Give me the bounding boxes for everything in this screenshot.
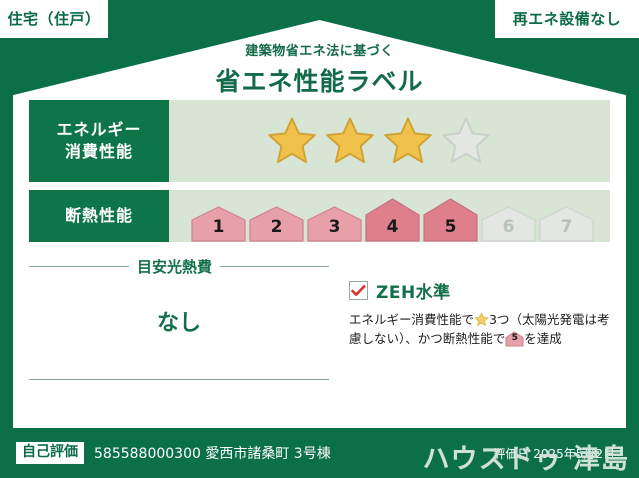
energy-performance-label: 住宅（住戸） 再エネ設備なし 建築物省エネ法に基づく 省エネ性能ラベル エネルギ… — [0, 0, 639, 478]
page-title: 省エネ性能ラベル — [0, 62, 639, 98]
insulation-level-chip-value: 5 — [423, 217, 478, 237]
insulation-level-chip-2: 2 — [249, 206, 304, 242]
renewable-energy-tag: 再エネ設備なし — [495, 0, 639, 38]
title-subtitle: 建築物省エネ法に基づく — [0, 40, 639, 59]
evaluation-date: 評価日 2025年5月2日 — [493, 445, 623, 462]
insulation-level-chip-1: 1 — [191, 206, 246, 242]
zeh-heading: ZEH水準 — [349, 278, 610, 303]
evaluation-type-badge: 自己評価 — [16, 442, 84, 464]
zeh-description-part1: エネルギー消費性能で — [349, 312, 474, 327]
energy-performance-label-box: エネルギー 消費性能 — [29, 100, 169, 182]
insulation-performance-row: 断熱性能 1234567 — [29, 190, 610, 242]
insulation-level-chip-value: 1 — [191, 217, 246, 237]
star-icon — [440, 115, 492, 167]
utility-cost-heading: 目安光熱費 — [29, 256, 329, 277]
renewable-energy-tag-label: 再エネ設備なし — [513, 12, 622, 27]
insulation-performance-value: 1234567 — [169, 190, 610, 242]
title-block: 建築物省エネ法に基づく 省エネ性能ラベル — [0, 40, 639, 98]
insulation-level-chip-6: 6 — [481, 206, 536, 242]
utility-cost-heading-label: 目安光熱費 — [137, 256, 212, 277]
insulation-level-chip-value: 4 — [365, 217, 420, 237]
utility-cost-bottom-rule — [29, 379, 329, 380]
footer-bar: 自己評価 585588000300 愛西市諸桑町 3号棟 評価日 2025年5月… — [0, 428, 639, 478]
zeh-checkbox[interactable] — [349, 281, 368, 300]
zeh-title: ZEH水準 — [376, 278, 451, 303]
insulation-performance-label-box: 断熱性能 — [29, 190, 169, 242]
heading-rule-right — [220, 266, 329, 267]
zeh-block: ZEH水準 エネルギー消費性能で 3つ（太陽光発電は考慮しない）、かつ断熱性能で… — [329, 256, 610, 380]
insulation-level-inline-chip: 5 — [505, 331, 524, 347]
heading-rule-left — [29, 266, 129, 267]
insulation-level-chip-4: 4 — [365, 198, 420, 242]
insulation-level-chip-7: 7 — [539, 206, 594, 242]
zeh-description-part3: を達成 — [524, 331, 562, 346]
zeh-description: エネルギー消費性能で 3つ（太陽光発電は考慮しない）、かつ断熱性能で 5 を達成 — [349, 310, 610, 349]
insulation-level-chip-value: 6 — [481, 217, 536, 237]
star-icon — [324, 115, 376, 167]
building-type-tag-label: 住宅（住戸） — [7, 12, 100, 27]
building-type-tag: 住宅（住戸） — [0, 0, 108, 38]
insulation-level-chip-value: 3 — [307, 217, 362, 237]
energy-performance-value — [169, 100, 610, 182]
energy-performance-row: エネルギー 消費性能 — [29, 100, 610, 182]
insulation-level-chip-value: 7 — [539, 217, 594, 237]
insulation-level-chip-value: 2 — [249, 217, 304, 237]
insulation-level-inline-chip-value: 5 — [505, 331, 524, 347]
energy-performance-label-line2: 消費性能 — [65, 141, 133, 163]
insulation-level-chip-5: 5 — [423, 198, 478, 242]
insulation-level-scale: 1234567 — [169, 190, 594, 242]
utility-cost-block: 目安光熱費 なし — [29, 256, 329, 380]
lower-section: 目安光熱費 なし ZEH水準 エネルギー消費性能で — [29, 256, 610, 380]
checkmark-icon — [351, 285, 366, 297]
star-icon — [474, 312, 489, 327]
label-content: エネルギー 消費性能 断熱性能 1234567 目安光熱費 — [29, 100, 610, 380]
property-identifier: 585588000300 愛西市諸桑町 3号棟 — [94, 443, 331, 463]
insulation-level-chip-3: 3 — [307, 206, 362, 242]
star-icon — [382, 115, 434, 167]
energy-performance-label-line1: エネルギー — [56, 119, 141, 141]
star-icon — [266, 115, 318, 167]
insulation-performance-label: 断熱性能 — [65, 205, 133, 227]
star-rating — [169, 115, 492, 167]
utility-cost-value: なし — [29, 305, 329, 337]
